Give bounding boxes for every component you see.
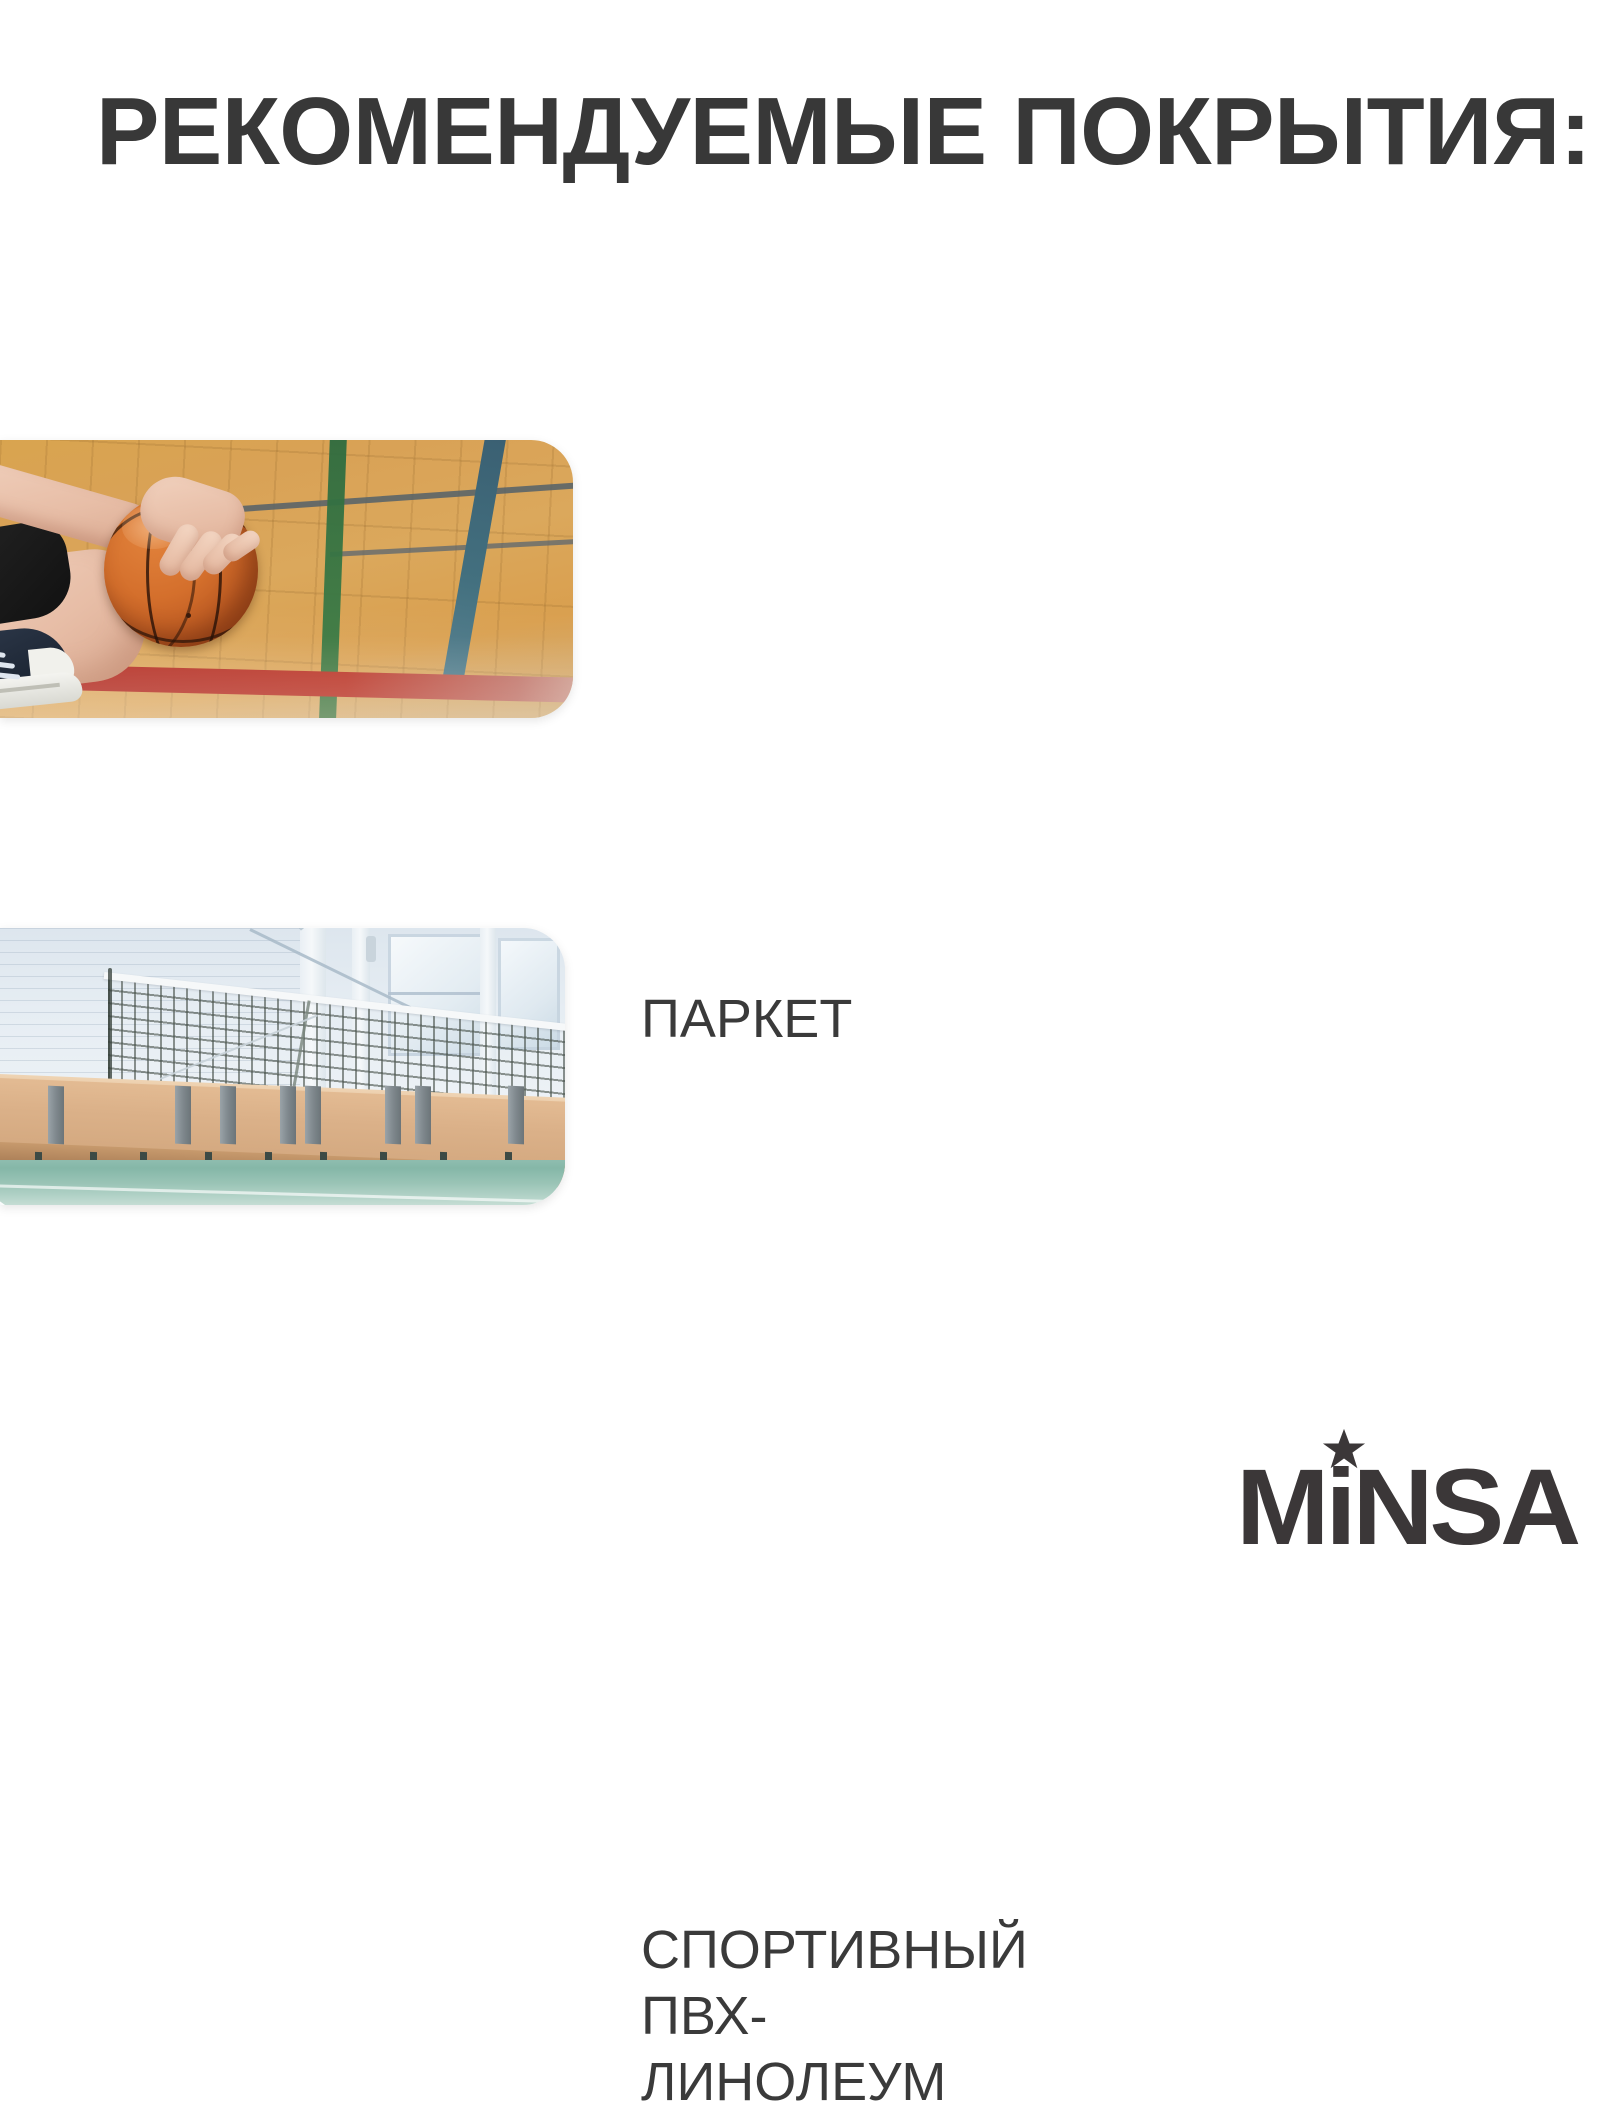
basketball-on-parquet-court-photo xyxy=(0,440,573,718)
covering-label-parquet: ПАРКЕТ xyxy=(641,986,852,1052)
basketball-valve xyxy=(186,613,191,618)
wall-bracket xyxy=(415,1086,431,1145)
ceiling-lamp xyxy=(366,936,376,962)
parquet-floor-surface xyxy=(0,440,573,718)
covering-label-pvc-linoleum: СПОРТИВНЫЙ ПВХ-ЛИНОЛЕУМ xyxy=(641,1917,1028,2115)
wall-bracket xyxy=(220,1086,236,1145)
wall-bracket xyxy=(508,1086,524,1145)
gym-pvc-linoleum-volleyball-net-photo xyxy=(0,928,565,1205)
page-title: РЕКОМЕНДУЕМЫЕ ПОКРЫТИЯ: xyxy=(96,84,1591,180)
court-line-blue xyxy=(442,440,508,686)
brand-logo-text: MiNSA xyxy=(1236,1453,1577,1561)
sneaker xyxy=(0,622,88,718)
court-line-dark-horizontal xyxy=(240,482,573,512)
wall-bracket xyxy=(175,1086,191,1145)
court-line-dark-horizontal-2 xyxy=(330,539,573,557)
wall-bracket xyxy=(48,1086,64,1145)
gym-interior xyxy=(0,928,565,1205)
wall-bracket xyxy=(305,1086,321,1145)
wall-bracket xyxy=(280,1086,296,1145)
brand-logo: MiNSA xyxy=(1236,1425,1536,1540)
court-line-red xyxy=(60,665,573,703)
wall-bracket xyxy=(385,1086,401,1145)
slide-canvas: РЕКОМЕНДУЕМЫЕ ПОКРЫТИЯ: xyxy=(0,0,1600,1600)
